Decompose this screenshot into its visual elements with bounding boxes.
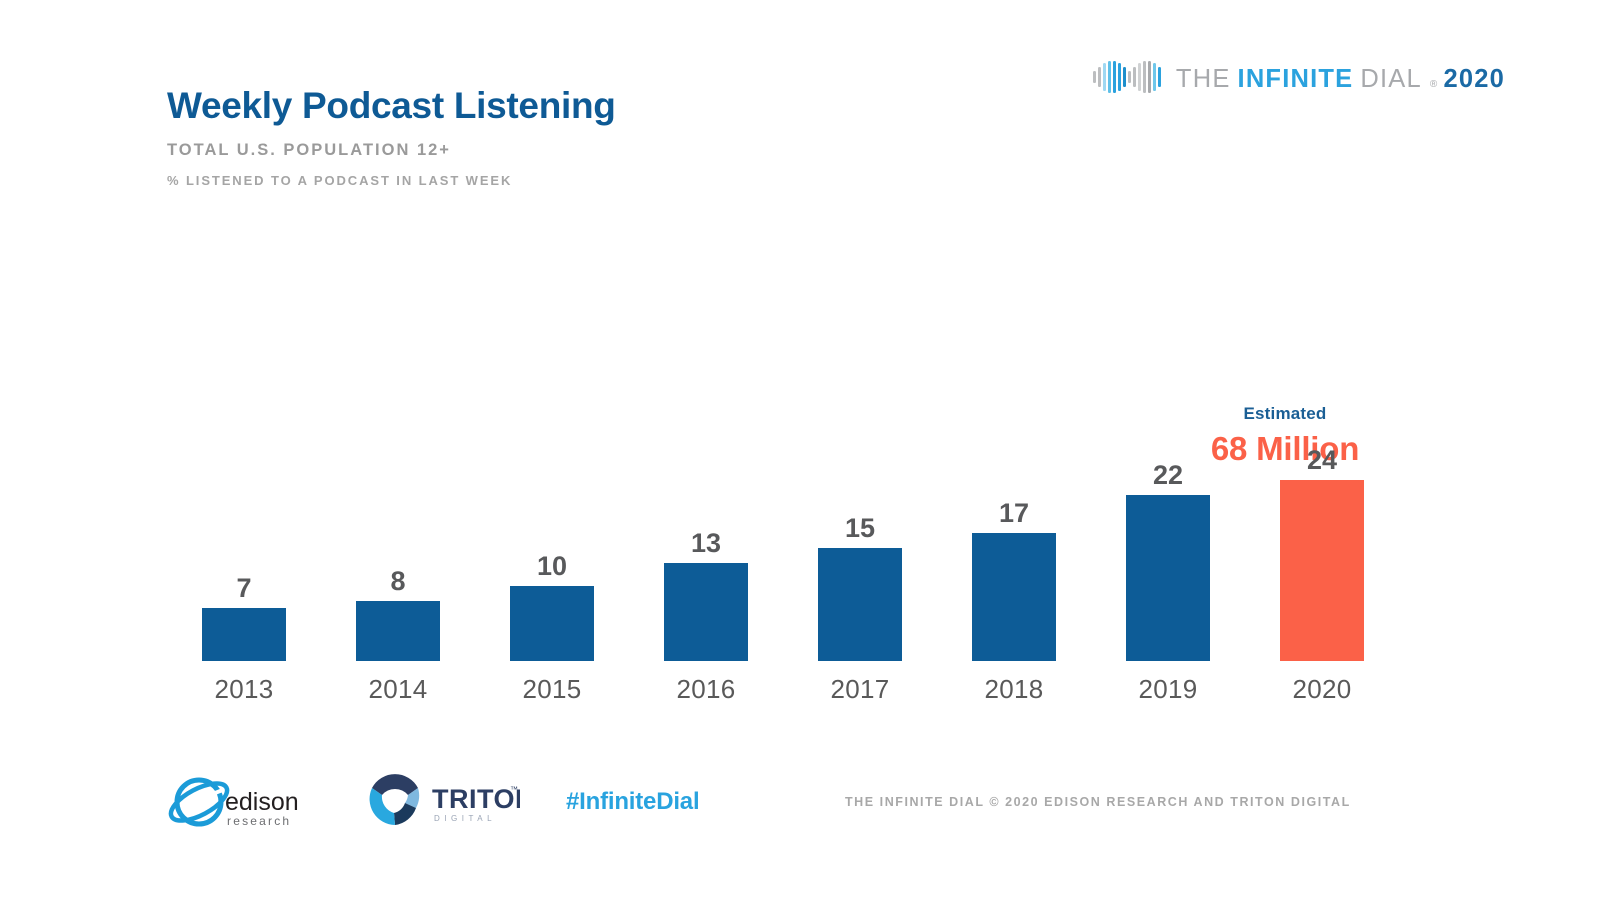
svg-text:DIGITAL: DIGITAL xyxy=(434,814,496,823)
x-axis-label-2017: 2017 xyxy=(783,674,937,705)
bar-column-2018: 172018 xyxy=(937,430,1091,715)
bar-column-2017: 152017 xyxy=(783,430,937,715)
x-axis-label-2016: 2016 xyxy=(629,674,783,705)
bar-value-label: 7 xyxy=(167,573,321,604)
svg-text:TRITON: TRITON xyxy=(432,784,520,814)
footer: edison research TRITON DIGITAL ™ #Infini… xyxy=(0,762,1600,852)
x-axis-label-2015: 2015 xyxy=(475,674,629,705)
bar-column-2013: 72013 xyxy=(167,430,321,715)
bar-2015[interactable] xyxy=(510,586,594,661)
bar-2014[interactable] xyxy=(356,601,440,661)
bar-2018[interactable] xyxy=(972,533,1056,661)
bar-column-2020: 242020 xyxy=(1245,430,1399,715)
brand-dial: DIAL xyxy=(1360,65,1422,94)
svg-text:research: research xyxy=(227,814,291,828)
bar-column-2015: 102015 xyxy=(475,430,629,715)
bar-2016[interactable] xyxy=(664,563,748,661)
page-title: Weekly Podcast Listening xyxy=(167,86,967,127)
x-axis-label-2020: 2020 xyxy=(1245,674,1399,705)
bar-2017[interactable] xyxy=(818,548,902,661)
bar-2013[interactable] xyxy=(202,608,286,661)
estimated-label: Estimated xyxy=(1150,404,1420,424)
copyright-text: THE INFINITE DIAL © 2020 EDISON RESEARCH… xyxy=(845,795,1351,809)
brand-lockup: THE INFINITE DIAL ® 2020 xyxy=(1091,58,1505,101)
bar-column-2014: 82014 xyxy=(321,430,475,715)
bar-2020[interactable] xyxy=(1280,480,1364,661)
svg-text:™: ™ xyxy=(510,785,518,794)
bar-2019[interactable] xyxy=(1126,495,1210,661)
bar-value-label: 22 xyxy=(1091,460,1245,491)
edison-research-logo-icon: edison research xyxy=(167,772,307,834)
bar-value-label: 13 xyxy=(629,528,783,559)
bar-value-label: 10 xyxy=(475,551,629,582)
bar-column-2019: 222019 xyxy=(1091,430,1245,715)
brand-infinite: INFINITE xyxy=(1238,65,1354,94)
slide-canvas: Weekly Podcast Listening TOTAL U.S. POPU… xyxy=(0,0,1600,900)
svg-text:edison: edison xyxy=(225,788,299,816)
triton-digital-logo-icon: TRITON DIGITAL ™ xyxy=(360,774,520,832)
chart-note: % LISTENED TO A PODCAST IN LAST WEEK xyxy=(167,173,967,188)
brand-year: 2020 xyxy=(1443,65,1505,94)
brand-wordmark: THE INFINITE DIAL ® 2020 xyxy=(1176,65,1505,94)
bar-column-2016: 132016 xyxy=(629,430,783,715)
infinity-bars-icon xyxy=(1091,58,1165,101)
bar-value-label: 8 xyxy=(321,566,475,597)
x-axis-label-2018: 2018 xyxy=(937,674,1091,705)
x-axis-label-2019: 2019 xyxy=(1091,674,1245,705)
brand-the: THE xyxy=(1176,65,1231,94)
bar-value-label: 17 xyxy=(937,498,1091,529)
x-axis-label-2013: 2013 xyxy=(167,674,321,705)
bar-value-label: 24 xyxy=(1245,445,1399,476)
x-axis-label-2014: 2014 xyxy=(321,674,475,705)
bar-value-label: 15 xyxy=(783,513,937,544)
header-block: Weekly Podcast Listening TOTAL U.S. POPU… xyxy=(167,86,967,188)
registered-mark: ® xyxy=(1430,79,1439,90)
hashtag-label: #InfiniteDial xyxy=(566,788,699,816)
bar-chart-plot: 7201382014102015132016152017172018222019… xyxy=(167,430,1417,715)
chart-subtitle: TOTAL U.S. POPULATION 12+ xyxy=(167,141,967,160)
